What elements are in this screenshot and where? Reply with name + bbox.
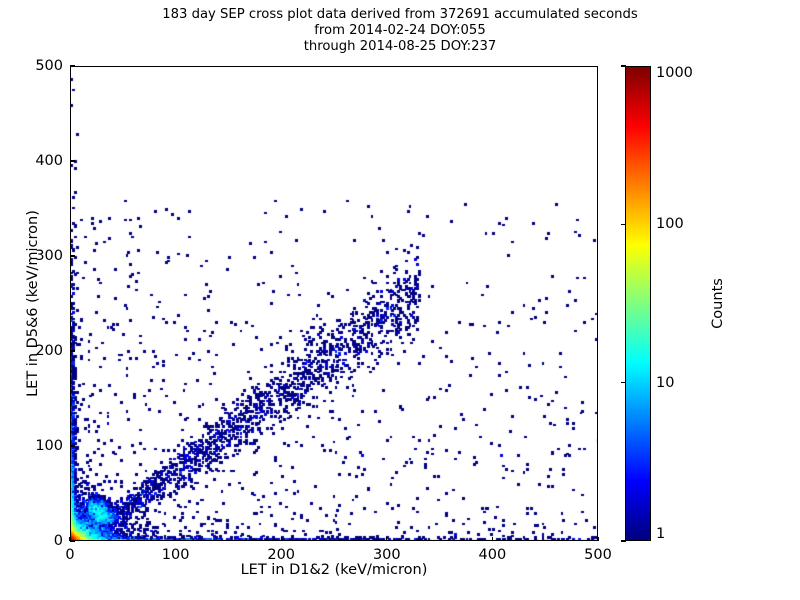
x-tick-label: 0 <box>65 547 74 563</box>
y-axis-label: LET in D5&6 (keV/micron) <box>25 66 41 541</box>
colorbar-canvas <box>626 67 650 540</box>
y-tick-mark <box>70 65 75 66</box>
scatter-density-plot <box>71 67 598 541</box>
colorbar-tick-mark <box>621 224 626 225</box>
x-tick-label: 300 <box>373 547 401 563</box>
figure-canvas: 183 day SEP cross plot data derived from… <box>0 0 800 600</box>
x-axis-label: LET in D1&2 (keV/micron) <box>70 562 598 578</box>
colorbar-tick-label: 100 <box>656 216 684 232</box>
x-tick-mark <box>597 537 598 542</box>
x-tick-mark <box>281 537 282 542</box>
plot-title-line-2: from 2014-02-24 DOY:055 <box>0 23 800 39</box>
plot-title: 183 day SEP cross plot data derived from… <box>0 7 800 55</box>
y-tick-mark <box>70 350 75 351</box>
y-tick-mark <box>70 255 75 256</box>
plot-axes-area <box>70 66 598 541</box>
colorbar-label: Counts <box>710 66 726 541</box>
plot-title-line-1: 183 day SEP cross plot data derived from… <box>0 7 800 23</box>
x-tick-mark <box>175 537 176 542</box>
plot-title-line-3: through 2014-08-25 DOY:237 <box>0 39 800 55</box>
y-tick-mark <box>70 540 75 541</box>
y-tick-mark <box>70 445 75 446</box>
x-tick-mark <box>492 537 493 542</box>
colorbar-container: 1101001000 <box>625 66 651 541</box>
y-tick-mark <box>70 160 75 161</box>
colorbar-tick-label: 10 <box>656 375 674 391</box>
colorbar-tick-label: 1000 <box>656 65 693 81</box>
colorbar-gradient <box>625 66 651 541</box>
x-tick-mark <box>386 537 387 542</box>
x-tick-label: 500 <box>584 547 612 563</box>
colorbar-tick-mark <box>621 540 626 541</box>
colorbar-tick-mark <box>621 382 626 383</box>
x-tick-label: 100 <box>162 547 190 563</box>
x-tick-label: 200 <box>267 547 295 563</box>
colorbar-tick-mark <box>621 65 626 66</box>
x-tick-mark <box>69 537 70 542</box>
colorbar-tick-label: 1 <box>656 526 665 542</box>
x-tick-label: 400 <box>479 547 507 563</box>
